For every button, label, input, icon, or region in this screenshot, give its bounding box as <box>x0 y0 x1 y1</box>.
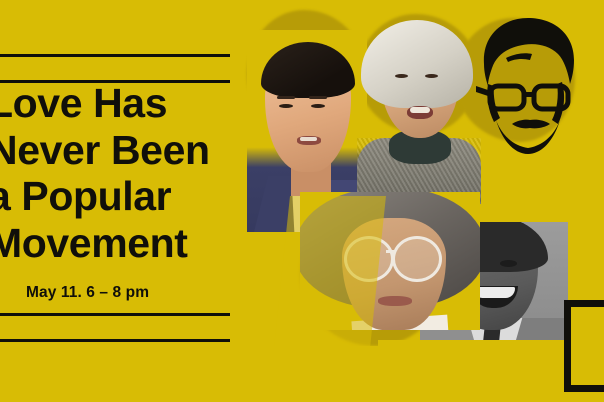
glasses-lens-right <box>392 236 442 282</box>
elder-eye-right <box>425 74 438 78</box>
headline-line-3: a Popular <box>0 173 248 220</box>
suit-brow-left <box>277 96 295 99</box>
suit-eye-left <box>279 104 293 108</box>
glasses-bridge <box>386 250 396 253</box>
elder-white-hair <box>361 20 473 108</box>
portrait-lineart-man <box>462 12 594 158</box>
yellow-overlay-wash <box>274 196 386 348</box>
elder-eye-left <box>395 74 408 78</box>
glasses-elder-mouth <box>378 296 412 306</box>
bw-eye-right <box>500 260 517 267</box>
rule-top-first <box>0 54 230 57</box>
headline-line-2: Never Been <box>0 127 248 174</box>
rule-bottom-first <box>0 313 230 316</box>
poster-canvas: Love Has Never Been a Popular Movement M… <box>0 0 604 402</box>
headline-line-4: Movement <box>0 220 248 267</box>
suit-hair <box>261 42 355 98</box>
rule-bottom-second <box>0 339 230 342</box>
suit-teeth <box>300 137 317 141</box>
yellow-bottom-band <box>0 346 604 402</box>
headline-line-1: Love Has <box>0 80 248 127</box>
event-datetime: May 11. 6 – 8 pm <box>26 284 149 302</box>
page-title: Love Has Never Been a Popular Movement <box>0 80 248 267</box>
elder-teeth <box>410 107 430 113</box>
portrait-white-haired-elder <box>355 18 481 204</box>
suit-eye-right <box>311 104 325 108</box>
bracket-frame-logo <box>564 300 604 392</box>
suit-brow-right <box>309 96 327 99</box>
